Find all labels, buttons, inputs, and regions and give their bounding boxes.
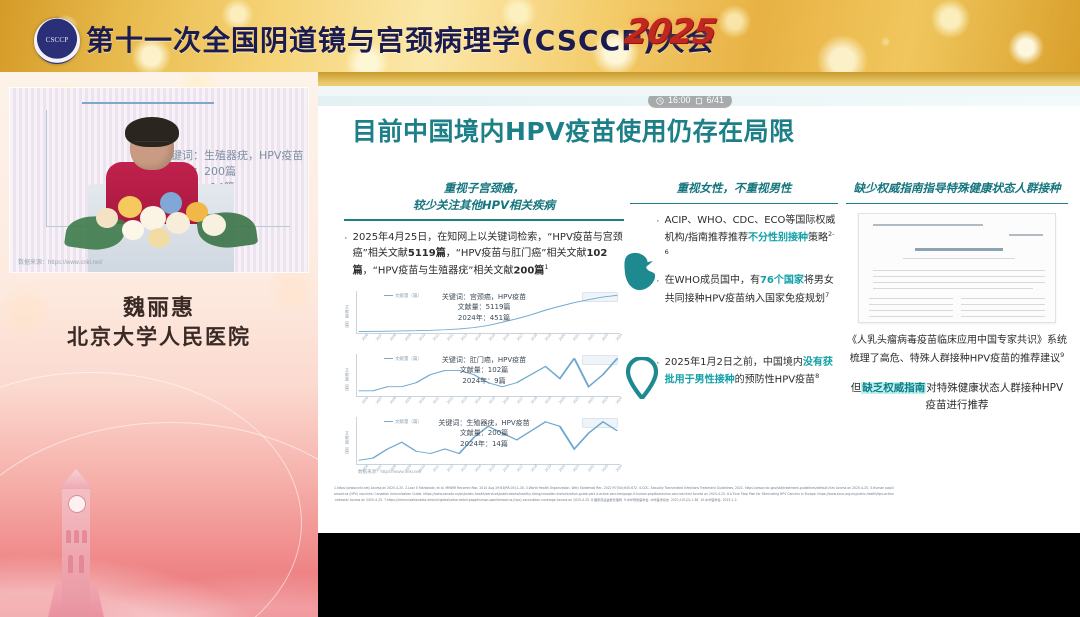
tower-roof	[59, 469, 93, 489]
chart-y-label: 文献量（篇）	[344, 305, 350, 331]
literature-chart-genital-warts: 文献量（篇） 文献量（篇） 数据来源：https://www.cnki.net/…	[344, 415, 624, 477]
chart-x-tick: 2007	[375, 396, 383, 405]
chart-x-tick: 2024	[615, 464, 623, 473]
doc-title-line	[915, 248, 1003, 250]
column-3-divider	[846, 203, 1068, 205]
chart-x-tick: 2008	[389, 333, 397, 342]
chart-x-tick: 2011	[432, 396, 440, 404]
clock-icon	[656, 97, 664, 105]
chart-x-tick: 2010	[418, 396, 426, 405]
chart-x-tick: 2016	[502, 333, 510, 342]
chart-x-tick: 2015	[488, 464, 496, 473]
column-2-bullet-text: 2025年1月2日之前，中国境内没有获批用于男性接种的预防性HPV疫苗8	[665, 355, 838, 389]
chart-x-tick: 2013	[460, 464, 468, 473]
playback-status-badge: 16:00 6/41	[648, 96, 732, 108]
chart-x-tick: 2023	[601, 396, 609, 405]
chart-x-tick: 2015	[488, 396, 496, 405]
conference-year: 2025	[622, 12, 718, 52]
chart-plot-area: 文献量（篇） 文献量（篇） 20062007200820092010201120…	[356, 291, 620, 334]
doc-line	[869, 298, 953, 299]
flower	[148, 228, 170, 248]
chart-x-tick: 2017	[516, 464, 524, 473]
chart-x-tick: 2010	[418, 464, 426, 473]
chart-x-tick: 2022	[587, 464, 595, 473]
chart-x-tick: 2013	[460, 333, 468, 342]
chart-x-tick: 2024	[615, 396, 623, 405]
column-1-bullet: · 2025年4月25日，在知网上以关键词检索，“HPV疫苗与宫颈癌”相关文献5…	[344, 230, 624, 280]
doc-line	[873, 288, 1033, 289]
chart-x-tick: 2023	[601, 333, 609, 342]
tower-window	[82, 530, 87, 543]
chart-x-tick: 2018	[530, 333, 538, 342]
chart-plot-area: 文献量（篇） 文献量（篇） 20062007200820092010201120…	[356, 354, 620, 397]
globe-icon	[622, 249, 662, 298]
chart-x-tick: 2020	[558, 464, 566, 473]
doc-line	[869, 316, 953, 317]
flower	[118, 196, 142, 218]
chart-x-tick: 2024	[615, 333, 623, 342]
left-side-panel: 关键词：生殖器疣，HPV疫苗文献量：200篇2024年：14篇 数据来源：htt…	[0, 72, 318, 617]
slide-top-mask	[318, 86, 1080, 96]
chart-x-tick: 2018	[530, 396, 538, 405]
chart-x-tick: 2012	[446, 464, 454, 473]
chart-x-tick: 2019	[544, 464, 552, 473]
slide-title: 目前中国境内HPV疫苗使用仍存在局限	[352, 112, 795, 148]
chart-x-tick: 2014	[474, 396, 482, 405]
chart-y-label: 文献量（篇）	[344, 431, 350, 457]
flower	[96, 208, 118, 228]
chart-x-tick: 2006	[361, 333, 369, 342]
chart-x-tick: 2016	[502, 464, 510, 473]
doc-line	[873, 270, 1045, 271]
chart-x-tick: 2009	[404, 396, 412, 405]
chart-x-tick: 2016	[502, 396, 510, 405]
column-2-heading: 重视女性，不重视男性	[630, 180, 838, 197]
column-2-bullet: · ACIP、WHO、CDC、ECO等国际权威机构/指南推荐推荐不分性别接种策略…	[656, 213, 838, 264]
column-1-heading: 重视子宫颈癌， 较少关注其他HPV相关疾病	[344, 180, 624, 213]
video-slide-line	[82, 102, 214, 104]
chart-x-tick: 2013	[460, 396, 468, 405]
slide-column-3: 缺少权威指南指导特殊健康状态人群接种 《人乳头瘤病毒疫	[846, 180, 1068, 414]
chart-x-tick: 2007	[375, 333, 383, 342]
chart-plot-area: 文献量（篇） 文献量（篇） 数据来源：https://www.cnki.net/…	[356, 417, 620, 465]
chart-x-tick: 2011	[432, 464, 440, 472]
bullet-dot: ·	[344, 230, 348, 280]
slide-references: 1.https://www.cnki.net/ Access on 2025-4…	[334, 486, 894, 504]
tower-window	[66, 530, 71, 543]
tower-clock-face	[68, 495, 86, 513]
chart-x-tick: 2012	[446, 396, 454, 405]
letterbox-bottom	[318, 533, 1080, 617]
flower	[122, 220, 144, 240]
chart-line-path	[356, 291, 620, 334]
chart-x-tick: 2018	[530, 464, 538, 473]
consensus-document-thumbnail	[858, 213, 1056, 323]
chart-x-tick: 2015	[488, 333, 496, 342]
video-slide-footnote: 数据来源：https://www.cnki.net/	[18, 257, 103, 266]
column-1-divider	[344, 219, 624, 221]
conference-title: 第十一次全国阴道镜与宫颈病理学(CSCCP)大会	[86, 16, 714, 62]
chart-x-tick: 2019	[544, 333, 552, 342]
speaker-glasses	[134, 141, 170, 150]
chart-x-tick: 2012	[446, 333, 454, 342]
tower-window	[74, 530, 79, 543]
chart-x-tick: 2014	[474, 464, 482, 473]
elapsed-time: 16:00	[668, 96, 691, 108]
column-2-bullet: · 在WHO成员国中，有76个国家将男女共同接种HPV疫苗纳入国家免疫规划7	[656, 273, 838, 307]
tower-window	[79, 555, 84, 573]
clock-tower-decoration	[48, 469, 104, 617]
column-1-bullet-text: 2025年4月25日，在知网上以关键词检索，“HPV疫苗与宫颈癌”相关文献511…	[353, 230, 624, 280]
column-3-paragraph-1: 《人乳头瘤病毒疫苗临床应用中国专家共识》系统梳理了高危、特殊人群接种HPV疫苗的…	[846, 333, 1068, 367]
doc-line	[961, 298, 1045, 299]
csccp-logo-icon: CSCCP	[34, 18, 80, 64]
chart-line-path	[356, 354, 620, 397]
doc-line	[903, 258, 1015, 259]
chart-x-tick: 2008	[389, 396, 397, 405]
speaker-name: 魏丽惠	[0, 290, 318, 322]
page-icon	[695, 97, 703, 105]
slide-column-1: 重视子宫颈癌， 较少关注其他HPV相关疾病 · 2025年4月25日，在知网上以…	[344, 180, 624, 483]
live-stream-stage: CSCCP 第十一次全国阴道镜与宫颈病理学(CSCCP)大会 2025 关键词：…	[0, 0, 1080, 617]
chart-x-tick: 2010	[418, 333, 426, 342]
column-2-bullet-text: ACIP、WHO、CDC、ECO等国际权威机构/指南推荐推荐不分性别接种策略2-…	[665, 213, 838, 264]
column-3-paragraph-2: 但缺乏权威指南对特殊健康状态人群接种HPV疫苗进行推荐	[846, 380, 1068, 415]
location-pin-icon	[626, 357, 658, 404]
slide-column-2: 重视女性，不重视男性 · ACIP、WHO、CDC、ECO等国际权威机构/指南推…	[630, 180, 838, 398]
chart-x-tick: 2021	[572, 333, 580, 342]
speaker-organization: 北京大学人民医院	[0, 321, 318, 351]
chart-line-path	[356, 417, 620, 465]
speaker-video[interactable]: 关键词：生殖器疣，HPV疫苗文献量：200篇2024年：14篇 数据来源：htt…	[10, 88, 308, 272]
doc-line	[873, 282, 1045, 283]
chart-x-tick: 2019	[544, 396, 552, 405]
logo-label: CSCCP	[46, 37, 69, 44]
video-slide-yaxis	[46, 110, 47, 226]
flower-bouquet	[62, 186, 258, 256]
column-2-bullet: · 2025年1月2日之前，中国境内没有获批用于男性接种的预防性HPV疫苗8	[656, 355, 838, 389]
chart-x-tick: 2021	[572, 396, 580, 405]
doc-header-line	[1009, 234, 1043, 236]
doc-line	[961, 304, 1045, 305]
doc-line	[869, 304, 953, 305]
literature-chart-cervical-cancer: 文献量（篇） 文献量（篇） 20062007200820092010201120…	[344, 289, 624, 346]
chart-x-tick: 2009	[404, 333, 412, 342]
doc-line	[869, 310, 953, 311]
column-3-heading: 缺少权威指南指导特殊健康状态人群接种	[846, 180, 1068, 197]
chart-x-tick: 2021	[572, 464, 580, 473]
chart-x-tick: 2011	[432, 333, 440, 341]
conference-banner: CSCCP 第十一次全国阴道镜与宫颈病理学(CSCCP)大会 2025	[0, 0, 1080, 72]
doc-header-line	[873, 224, 983, 226]
chart-x-tick: 2022	[587, 333, 595, 342]
tower-window	[68, 555, 73, 573]
chart-x-tick: 2020	[558, 396, 566, 405]
chart-x-tick: 2020	[558, 333, 566, 342]
flower	[160, 192, 182, 214]
literature-chart-anal-cancer: 文献量（篇） 文献量（篇） 20062007200820092010201120…	[344, 352, 624, 409]
column-2-divider	[630, 203, 838, 205]
doc-line	[873, 276, 1045, 277]
doc-line	[961, 316, 1045, 317]
chart-y-label: 文献量（篇）	[344, 368, 350, 394]
doc-line	[961, 310, 1045, 311]
chart-x-tick: 2023	[601, 464, 609, 473]
column-2-bullet-text: 在WHO成员国中，有76个国家将男女共同接种HPV疫苗纳入国家免疫规划7	[665, 273, 838, 307]
chart-x-tick: 2006	[361, 396, 369, 405]
chart-x-tick: 2017	[516, 333, 524, 342]
chart-x-tick: 2022	[587, 396, 595, 405]
presentation-slide[interactable]: 16:00 6/41 目前中国境内HPV疫苗使用仍存在局限 重视子宫颈癌， 较少…	[318, 96, 1080, 533]
page-indicator: 6/41	[707, 96, 725, 108]
chart-x-tick: 2014	[474, 333, 482, 342]
chart-x-tick: 2017	[516, 396, 524, 405]
flower	[202, 214, 226, 236]
